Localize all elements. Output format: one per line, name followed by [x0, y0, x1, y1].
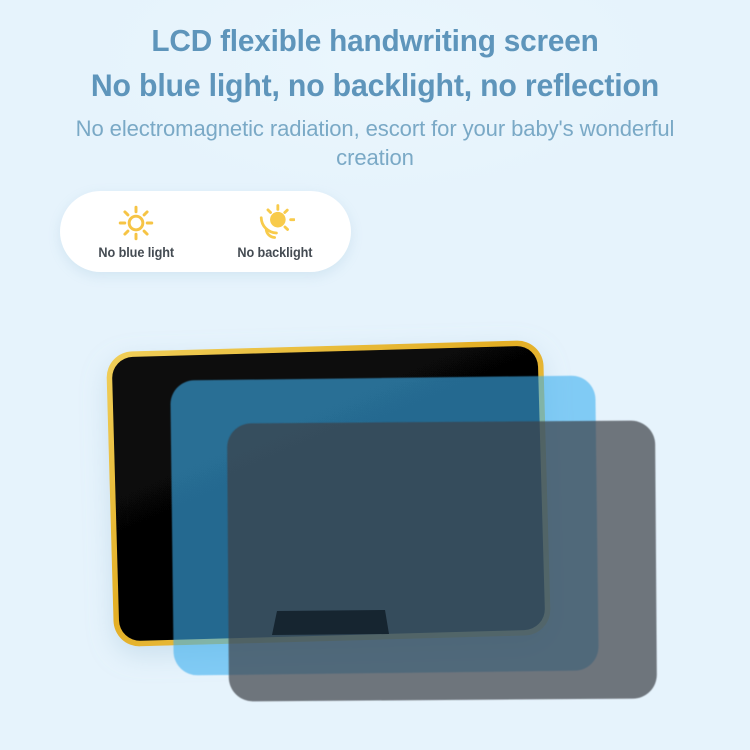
sun-outline-icon — [117, 204, 155, 242]
product-artwork — [0, 300, 750, 750]
feature-badge-pill: No blue light — [60, 191, 351, 272]
feature-label: No backlight — [238, 245, 313, 260]
feature-no-backlight: No backlight — [215, 204, 335, 260]
feature-no-blue-light: No blue light — [76, 204, 196, 260]
page-subtitle: No electromagnetic radiation, escort for… — [8, 115, 743, 173]
tablet-stand-bar — [272, 610, 389, 635]
page-title-line2: No blue light, no backlight, no reflecti… — [15, 66, 735, 104]
page-title-line1: LCD flexible handwriting screen — [15, 22, 735, 60]
headings-block: LCD flexible handwriting screen No blue … — [0, 22, 750, 173]
feature-label: No blue light — [98, 245, 174, 260]
product-promo-page: LCD flexible handwriting screen No blue … — [0, 0, 750, 750]
sun-filled-rays-icon — [255, 204, 295, 242]
overlay-gray-film — [227, 421, 657, 702]
